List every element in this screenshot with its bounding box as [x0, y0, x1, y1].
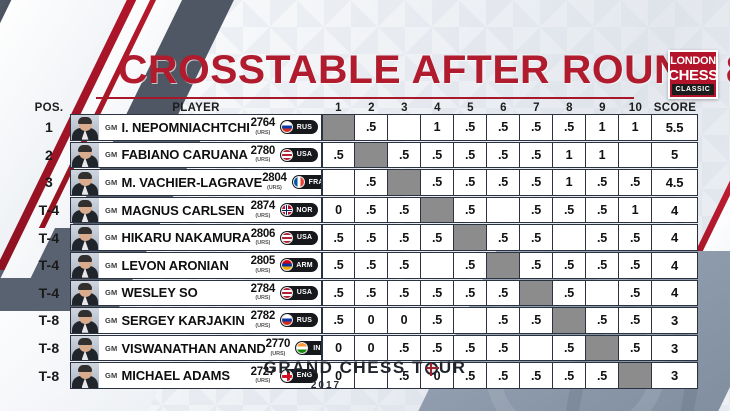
player-score: 4.5 [652, 169, 698, 196]
result-cell: .5 [553, 197, 586, 224]
player-score: 3 [652, 307, 698, 334]
result-cell-self [454, 224, 487, 251]
player-avatar [71, 170, 99, 195]
player-country-badge: ARM [280, 258, 318, 272]
result-cell: .5 [520, 142, 553, 169]
player-title: GM [105, 261, 117, 270]
player-rating-group: 2806(URS) [251, 229, 275, 247]
player-avatar [71, 115, 99, 140]
result-cell: .5 [355, 252, 388, 279]
result-cell: .5 [355, 197, 388, 224]
player-country-code: USA [293, 234, 318, 241]
player-cell[interactable]: GMWESLEY SO2784(URS)USA [70, 280, 322, 307]
result-cell: 0 [388, 307, 421, 334]
column-header-pos: POS. [28, 102, 70, 114]
result-cell-self [421, 197, 454, 224]
player-rating-group: 2780(URS) [251, 146, 275, 164]
result-cell: .5 [454, 142, 487, 169]
player-position: T-4 [28, 197, 70, 224]
player-avatar [71, 308, 99, 333]
player-score: 5.5 [652, 114, 698, 141]
player-title: GM [105, 344, 117, 353]
player-country-code: USA [293, 289, 318, 296]
logo-line-classic: CLASSIC [672, 84, 714, 95]
player-cell[interactable]: GMI. NEPOMNIACHTCHI2764(URS)RUS [70, 114, 322, 141]
table-body: 1GMI. NEPOMNIACHTCHI2764(URS)RUS.51.5.5.… [28, 114, 708, 389]
result-cell: .5 [322, 252, 355, 279]
flag-ind-icon [296, 342, 308, 354]
result-cell: 1 [586, 114, 619, 141]
flag-nor-icon [281, 204, 293, 216]
player-cell[interactable]: GMM. VACHIER-LAGRAVE2804(URS)FRA [70, 169, 322, 196]
result-cell: .5 [553, 252, 586, 279]
player-rating-group: 2782(URS) [251, 311, 275, 329]
player-rating: 2806 [251, 229, 275, 241]
flag-usa-icon [281, 287, 293, 299]
result-cell-self [322, 114, 355, 141]
player-country-code: ARM [293, 262, 318, 269]
result-cell: .5 [487, 114, 520, 141]
player-score: 5 [652, 142, 698, 169]
london-chess-classic-logo: LONDON CHESS CLASSIC [668, 50, 718, 99]
table-row[interactable]: T-4GMLEVON ARONIAN2805(URS)ARM.5.5.5.5.5… [28, 252, 708, 279]
result-cell: .5 [322, 280, 355, 307]
result-cell [421, 252, 454, 279]
player-avatar [71, 253, 99, 278]
result-cell [619, 142, 652, 169]
result-cell: .5 [520, 224, 553, 251]
player-rating: 2874 [251, 201, 275, 213]
result-cell: .5 [487, 307, 520, 334]
player-country-code: RUS [293, 124, 318, 131]
page-title: CROSSTABLE AFTER ROUND 8 [118, 50, 730, 90]
player-name: M. VACHIER-LAGRAVE [121, 175, 262, 190]
column-header-round-10: 10 [619, 102, 652, 114]
result-cell [454, 307, 487, 334]
column-header-player: PLAYER [70, 102, 322, 114]
player-position: 3 [28, 169, 70, 196]
player-title: GM [105, 178, 117, 187]
result-cell [553, 224, 586, 251]
player-rating-sub: (URS) [255, 214, 270, 220]
player-country-badge: RUS [280, 313, 318, 327]
player-rating: 2804 [262, 173, 286, 185]
player-name: FABIANO CARUANA [121, 147, 250, 162]
gct-year: 2017 [311, 380, 341, 391]
player-rating-sub: (URS) [256, 241, 271, 247]
flag-rus-icon [281, 121, 293, 133]
result-cell: 0 [355, 307, 388, 334]
player-rating-sub: (URS) [255, 296, 270, 302]
player-score: 4 [652, 280, 698, 307]
result-cell: .5 [586, 169, 619, 196]
player-score: 4 [652, 197, 698, 224]
player-country-code: IND [308, 345, 322, 352]
result-cell: .5 [388, 197, 421, 224]
result-cell-self [388, 169, 421, 196]
column-header-round-7: 7 [520, 102, 553, 114]
player-rating-group: 2874(URS) [251, 201, 275, 219]
result-cell: 1 [586, 142, 619, 169]
player-cell[interactable]: GMHIKARU NAKAMURA2806(URS)USA [70, 224, 322, 251]
player-avatar [71, 336, 99, 361]
result-cell: .5 [520, 252, 553, 279]
player-position: 2 [28, 142, 70, 169]
header: CROSSTABLE AFTER ROUND 8 LONDON CHESS CL… [0, 24, 730, 86]
table-row[interactable]: T-4GMHIKARU NAKAMURA2806(URS)USA.5.5.5.5… [28, 224, 708, 251]
result-cell [487, 197, 520, 224]
player-country-badge: USA [280, 286, 318, 300]
result-cell: .5 [553, 280, 586, 307]
column-header-round-8: 8 [553, 102, 586, 114]
result-cell-self [487, 252, 520, 279]
player-rating-sub: (URS) [255, 131, 270, 137]
result-cell: .5 [355, 169, 388, 196]
result-cell: .5 [487, 142, 520, 169]
column-header-round-3: 3 [388, 102, 421, 114]
result-cell [322, 169, 355, 196]
logo-body: LONDON CHESS CLASSIC [670, 52, 716, 97]
result-cell: .5 [586, 224, 619, 251]
player-title: GM [105, 150, 117, 159]
player-rating: 2770 [266, 339, 290, 351]
player-title: GM [105, 206, 117, 215]
player-name: I. NEPOMNIACHTCHI [121, 120, 250, 135]
result-cell: .5 [454, 114, 487, 141]
player-cell[interactable]: GMSERGEY KARJAKIN2782(URS)RUS [70, 307, 322, 334]
result-cell: .5 [421, 280, 454, 307]
player-country-code: RUS [293, 317, 318, 324]
player-rating-sub: (URS) [267, 186, 282, 192]
flag-usa-icon [281, 232, 293, 244]
result-cell: .5 [520, 197, 553, 224]
result-cell: .5 [322, 307, 355, 334]
logo-line-chess: CHESS [668, 68, 718, 83]
flag-rus-icon [281, 314, 293, 326]
player-cell[interactable]: GMLEVON ARONIAN2805(URS)ARM [70, 252, 322, 279]
column-header-round-1: 1 [322, 102, 355, 114]
player-country-badge: NOR [280, 203, 318, 217]
result-cell: .5 [355, 114, 388, 141]
player-rating-group: 2804(URS) [262, 173, 286, 191]
player-name: SERGEY KARJAKIN [121, 313, 250, 328]
player-avatar [71, 225, 99, 250]
result-cell: 1 [421, 114, 454, 141]
player-title: GM [105, 316, 117, 325]
gct-text-post: UR [439, 358, 467, 378]
player-name: VISWANATHAN ANAND [121, 341, 265, 356]
column-header-round-4: 4 [421, 102, 454, 114]
result-cell: .5 [520, 114, 553, 141]
result-cell: .5 [619, 169, 652, 196]
table-row[interactable]: 1GMI. NEPOMNIACHTCHI2764(URS)RUS.51.5.5.… [28, 114, 708, 141]
result-cell: .5 [619, 224, 652, 251]
player-position: T-4 [28, 224, 70, 251]
result-cell: .5 [322, 142, 355, 169]
player-name: LEVON ARONIAN [121, 258, 250, 273]
player-position: T-4 [28, 280, 70, 307]
player-rating: 2782 [251, 311, 275, 323]
player-cell[interactable]: GMMAGNUS CARLSEN2874(URS)NOR [70, 197, 322, 224]
result-cell: .5 [454, 252, 487, 279]
player-name: MAGNUS CARLSEN [121, 203, 250, 218]
globe-icon [425, 362, 438, 375]
player-country-badge: RUS [280, 120, 318, 134]
footer: GRAND CHESS T UR 2017 [0, 358, 730, 391]
result-cell: .5 [454, 169, 487, 196]
result-cell: .5 [388, 142, 421, 169]
result-cell: .5 [388, 252, 421, 279]
grand-chess-tour-logo: GRAND CHESS T UR [264, 358, 467, 378]
player-rating-group: 2764(URS) [251, 118, 275, 136]
result-cell: .5 [421, 142, 454, 169]
player-rating: 2805 [251, 256, 275, 268]
player-score: 4 [652, 252, 698, 279]
player-title: GM [105, 288, 117, 297]
result-cell-self [520, 280, 553, 307]
result-cell: 0 [322, 197, 355, 224]
result-cell: .5 [454, 280, 487, 307]
player-cell[interactable]: GMFABIANO CARUANA2780(URS)USA [70, 142, 322, 169]
result-cell: 1 [619, 114, 652, 141]
player-rating-group: 2805(URS) [251, 256, 275, 274]
result-cell: 1 [619, 197, 652, 224]
result-cell: .5 [619, 280, 652, 307]
column-header-round-9: 9 [586, 102, 619, 114]
result-cell: .5 [421, 224, 454, 251]
player-country-badge: IND [295, 341, 322, 355]
player-title: GM [105, 123, 117, 132]
result-cell: .5 [355, 280, 388, 307]
result-cell: .5 [421, 307, 454, 334]
player-rating-sub: (URS) [255, 269, 270, 275]
result-cell [388, 114, 421, 141]
result-cell: .5 [520, 307, 553, 334]
player-rating: 2780 [251, 146, 275, 158]
result-cell: .5 [586, 252, 619, 279]
result-cell: .5 [487, 169, 520, 196]
gct-text-pre: GRAND CHESS T [264, 358, 424, 378]
player-country-badge: USA [280, 148, 318, 162]
player-country-badge: USA [280, 231, 318, 245]
result-cell-self [355, 142, 388, 169]
player-name: WESLEY SO [121, 285, 250, 300]
result-cell: .5 [355, 224, 388, 251]
result-cell: .5 [586, 307, 619, 334]
player-country-badge: FRA [292, 175, 322, 189]
player-country-code: FRA [305, 179, 322, 186]
player-avatar [71, 198, 99, 223]
table-row[interactable]: 2GMFABIANO CARUANA2780(URS)USA.5.5.5.5.5… [28, 142, 708, 169]
player-rating-group: 2784(URS) [251, 284, 275, 302]
result-cell: .5 [586, 197, 619, 224]
crosstable: POS. PLAYER 1 2 3 4 5 6 7 8 9 10 SCORE 1… [28, 96, 708, 390]
result-cell: .5 [553, 114, 586, 141]
table-row[interactable]: 3GMM. VACHIER-LAGRAVE2804(URS)FRA.5.5.5.… [28, 169, 708, 196]
result-cell: .5 [388, 224, 421, 251]
result-cell: .5 [421, 169, 454, 196]
result-cell: 1 [553, 169, 586, 196]
result-cell: .5 [619, 307, 652, 334]
player-rating-group: 2770(URS) [266, 339, 290, 357]
column-header-round-6: 6 [487, 102, 520, 114]
player-avatar [71, 143, 99, 168]
result-cell: .5 [322, 224, 355, 251]
result-cell [586, 280, 619, 307]
result-cell: .5 [487, 224, 520, 251]
player-avatar [71, 281, 99, 306]
table-row[interactable]: T-4GMWESLEY SO2784(URS)USA.5.5.5.5.5.5.5… [28, 280, 708, 307]
table-row[interactable]: T-4GMMAGNUS CARLSEN2874(URS)NOR0.5.5.5.5… [28, 197, 708, 224]
column-header-round-2: 2 [355, 102, 388, 114]
result-cell: .5 [388, 280, 421, 307]
result-cell-self [553, 307, 586, 334]
player-position: T-8 [28, 307, 70, 334]
result-cell: .5 [487, 280, 520, 307]
player-title: GM [105, 233, 117, 242]
player-name: HIKARU NAKAMURA [121, 230, 250, 245]
flag-arm-icon [281, 259, 293, 271]
player-rating: 2784 [251, 284, 275, 296]
result-cell: .5 [454, 197, 487, 224]
player-score: 4 [652, 224, 698, 251]
result-cell: .5 [520, 169, 553, 196]
player-country-code: USA [293, 151, 318, 158]
player-position: 1 [28, 114, 70, 141]
player-rating-sub: (URS) [270, 352, 285, 358]
player-position: T-4 [28, 252, 70, 279]
column-header-round-5: 5 [454, 102, 487, 114]
flag-usa-icon [281, 149, 293, 161]
table-column-headers: POS. PLAYER 1 2 3 4 5 6 7 8 9 10 SCORE [28, 96, 708, 114]
table-row[interactable]: T-8GMSERGEY KARJAKIN2782(URS)RUS.500.5.5… [28, 307, 708, 334]
column-header-score: SCORE [652, 102, 698, 114]
player-country-code: NOR [293, 207, 318, 214]
flag-fra-icon [293, 176, 305, 188]
player-rating-sub: (URS) [255, 324, 270, 330]
result-cell: 1 [553, 142, 586, 169]
player-rating: 2764 [251, 118, 275, 130]
player-rating-sub: (URS) [255, 158, 270, 164]
logo-line-london: LONDON [670, 56, 716, 67]
result-cell: .5 [619, 252, 652, 279]
